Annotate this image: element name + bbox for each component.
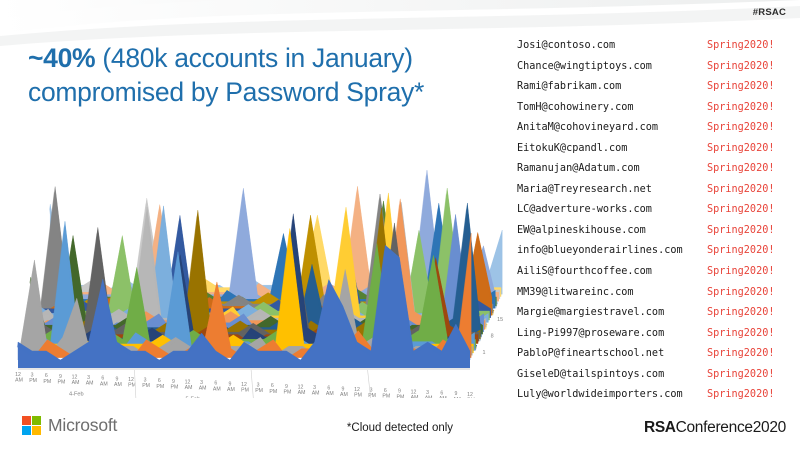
credential-password: Spring2020! — [707, 122, 774, 133]
credential-row: TomH@cohowinery.comSpring2020! — [517, 102, 795, 123]
chart-x-tick-label-meridiem: PM — [43, 379, 51, 385]
credential-password: Spring2020! — [707, 204, 774, 215]
chart-x-tick-label-meridiem: PM — [284, 389, 292, 395]
chart-x-tick-label-meridiem: AM — [86, 381, 94, 387]
chart-x-tick-label-meridiem: AM — [312, 391, 320, 397]
credential-row: Maria@Treyresearch.netSpring2020! — [517, 184, 795, 205]
compromised-credentials-list: Josi@contoso.comSpring2020!Chance@wingti… — [517, 40, 795, 410]
credential-password: Spring2020! — [707, 40, 774, 51]
credential-username: PabloP@fineartschool.net — [517, 348, 707, 359]
credential-username: AiliS@fourthcoffee.com — [517, 266, 707, 277]
logo-square-red — [22, 416, 31, 425]
chart-series-layer — [17, 170, 502, 365]
credential-password: Spring2020! — [707, 287, 774, 298]
credential-row: Josi@contoso.comSpring2020! — [517, 40, 795, 61]
credential-password: Spring2020! — [707, 61, 774, 72]
credential-row: MM39@litwareinc.comSpring2020! — [517, 287, 795, 308]
chart-x-tick-label-meridiem: PM — [382, 394, 390, 398]
slide-canvas: #RSAC ~40% (480k accounts in January) co… — [0, 0, 800, 449]
chart-series-axis-tick: 15 — [497, 317, 503, 323]
footnote-text: *Cloud detected only — [347, 422, 453, 434]
chart-x-tick-label-meridiem: AM — [199, 386, 207, 392]
chart-x-tick-label-meridiem: PM — [397, 394, 405, 398]
credential-row: Ling-Pi997@proseware.comSpring2020! — [517, 328, 795, 349]
credential-row: PabloP@fineartschool.netSpring2020! — [517, 348, 795, 369]
credential-username: Maria@Treyresearch.net — [517, 184, 707, 195]
chart-x-tick-label-meridiem: AM — [100, 381, 108, 387]
credential-password: Spring2020! — [707, 307, 774, 318]
logo-square-yellow — [32, 426, 41, 435]
chart-x-tick-label-meridiem: AM — [453, 397, 461, 398]
credential-password: Spring2020! — [707, 163, 774, 174]
chart-x-tick-label-meridiem: AM — [72, 380, 80, 386]
credential-username: Ramanujan@Adatum.com — [517, 163, 707, 174]
credential-row: Chance@wingtiptoys.comSpring2020! — [517, 61, 795, 82]
credential-password: Spring2020! — [707, 184, 774, 195]
credential-row: EW@alpineskihouse.comSpring2020! — [517, 225, 795, 246]
credential-row: Rami@fabrikam.comSpring2020! — [517, 81, 795, 102]
rsac-hashtag: #RSAC — [753, 7, 786, 18]
chart-x-tick-label-meridiem: PM — [241, 388, 249, 394]
chart-x-tick-label-meridiem: PM — [255, 388, 263, 394]
chart-x-tick-label-meridiem: PM — [354, 393, 362, 399]
credential-password: Spring2020! — [707, 266, 774, 277]
chart-x-tick-label-meridiem: PM — [156, 384, 164, 390]
chart-x-tick-label-meridiem: AM — [411, 395, 419, 398]
credential-username: EitokuK@cpandl.com — [517, 143, 707, 154]
chart-x-tick-label-meridiem: AM — [298, 390, 306, 396]
chart-date-group-label: 5-Feb — [185, 397, 200, 398]
chart-date-group-separator — [251, 370, 254, 398]
credential-username: Josi@contoso.com — [517, 40, 707, 51]
credential-password: Spring2020! — [707, 348, 774, 359]
chart-series-axis-tick: 1 — [483, 350, 486, 356]
password-spray-volume-chart: 12AM3PM6PM9PM12AM3AM6AM9AM12PM3PM6PM9PM1… — [0, 108, 505, 398]
credential-row: AiliS@fourthcoffee.comSpring2020! — [517, 266, 795, 287]
credential-password: Spring2020! — [707, 369, 774, 380]
credential-username: Luly@worldwideimporters.com — [517, 389, 707, 400]
chart-date-group-labels: 4-Feb5-Feb6-Feb7-Feb — [69, 370, 433, 398]
logo-square-green — [32, 416, 41, 425]
chart-x-tick-label-meridiem: PM — [467, 397, 475, 398]
credential-username: Ling-Pi997@proseware.com — [517, 328, 707, 339]
chart-x-tick-label-meridiem: AM — [326, 391, 334, 397]
credential-password: Spring2020! — [707, 328, 774, 339]
chart-front-wall — [18, 360, 470, 368]
headline-percent: ~40% — [28, 43, 95, 73]
credential-password: Spring2020! — [707, 143, 774, 154]
credential-username: TomH@cohowinery.com — [517, 102, 707, 113]
chart-x-tick-label-meridiem: AM — [114, 382, 122, 388]
logo-square-blue — [22, 426, 31, 435]
microsoft-logo-icon — [22, 416, 41, 435]
credential-username: LC@adverture-works.com — [517, 204, 707, 215]
credential-row: AnitaM@cohovineyard.comSpring2020! — [517, 122, 795, 143]
chart-x-tick-label-meridiem: AM — [227, 387, 235, 393]
chart-x-tick-label-meridiem: PM — [128, 383, 136, 389]
rsa-wordmark-rest: Conference2020 — [676, 419, 786, 436]
chart-x-tick-label-meridiem: AM — [439, 396, 447, 398]
page-title: ~40% (480k accounts in January) compromi… — [28, 42, 488, 109]
microsoft-logo: Microsoft — [22, 415, 117, 436]
rsa-wordmark-bold: RSA — [644, 419, 676, 436]
credential-row: LC@adverture-works.comSpring2020! — [517, 204, 795, 225]
slide-footer: Microsoft *Cloud detected only RSAConfer… — [0, 405, 800, 449]
credential-row: info@blueyonderairlines.comSpring2020! — [517, 245, 795, 266]
chart-x-tick-label-meridiem: AM — [425, 396, 433, 398]
chart-x-axis-tick-labels: 12AM3PM6PM9PM12AM3AM6AM9AM12PM3PM6PM9PM1… — [15, 372, 475, 398]
chart-x-tick-label-meridiem: PM — [368, 393, 376, 398]
chart-x-tick-label-meridiem: AM — [15, 378, 23, 384]
chart-x-tick-label-meridiem: AM — [340, 392, 348, 398]
chart-x-tick-label-meridiem: PM — [171, 384, 179, 390]
credential-password: Spring2020! — [707, 102, 774, 113]
microsoft-wordmark: Microsoft — [48, 415, 117, 436]
chart-svg: 12AM3PM6PM9PM12AM3AM6AM9AM12PM3PM6PM9PM1… — [0, 108, 505, 398]
chart-series-axis-tick: 8 — [491, 334, 494, 340]
chart-x-tick-label-meridiem: PM — [269, 389, 277, 395]
credential-username: Margie@margiestravel.com — [517, 307, 707, 318]
credential-password: Spring2020! — [707, 225, 774, 236]
credential-row: GiseleD@tailspintoys.comSpring2020! — [517, 369, 795, 390]
credential-username: EW@alpineskihouse.com — [517, 225, 707, 236]
chart-x-tick-label-meridiem: PM — [142, 383, 150, 389]
credential-username: MM39@litwareinc.com — [517, 287, 707, 298]
credential-row: Margie@margiestravel.comSpring2020! — [517, 307, 795, 328]
credential-password: Spring2020! — [707, 245, 774, 256]
credential-username: info@blueyonderairlines.com — [517, 245, 707, 256]
chart-x-tick-label-meridiem: AM — [213, 386, 221, 392]
credential-password: Spring2020! — [707, 81, 774, 92]
chart-x-tick-label-meridiem: PM — [29, 378, 37, 384]
chart-date-group-label: 4-Feb — [69, 392, 84, 398]
headline-rest: (480k accounts in January) — [95, 43, 412, 73]
chart-x-tick-label-meridiem: AM — [185, 385, 193, 391]
credential-row: Ramanujan@Adatum.comSpring2020! — [517, 163, 795, 184]
headline-line-2: compromised by Password Spray* — [28, 77, 424, 107]
credential-username: Chance@wingtiptoys.com — [517, 61, 707, 72]
credential-username: GiseleD@tailspintoys.com — [517, 369, 707, 380]
rsa-conference-logo: RSAConference2020 — [644, 419, 786, 437]
credential-username: Rami@fabrikam.com — [517, 81, 707, 92]
chart-x-tick-label-meridiem: PM — [58, 380, 66, 386]
credential-password: Spring2020! — [707, 389, 774, 400]
credential-row: EitokuK@cpandl.comSpring2020! — [517, 143, 795, 164]
credential-username: AnitaM@cohovineyard.com — [517, 122, 707, 133]
